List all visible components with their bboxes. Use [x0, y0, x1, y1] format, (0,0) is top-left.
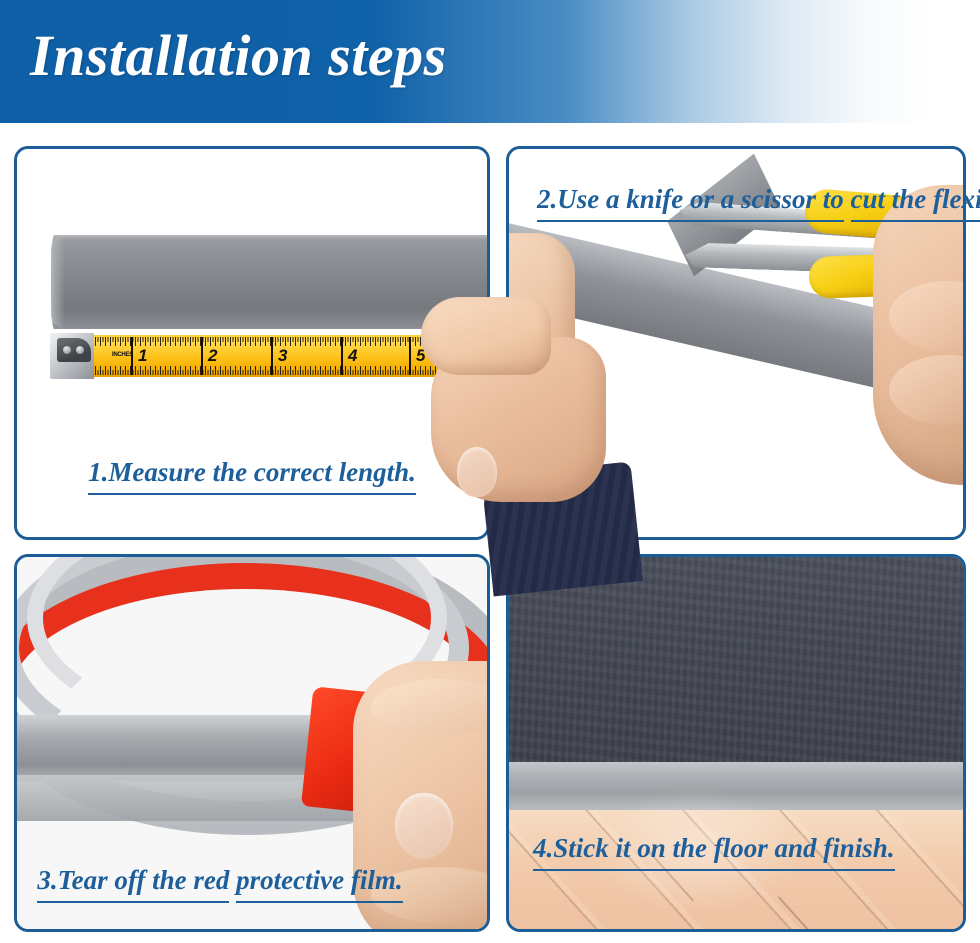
hand-nail	[395, 793, 453, 859]
tape-major-ticks-bottom	[50, 366, 450, 375]
hand-knuckle	[371, 679, 487, 735]
step-4-caption-line-1: 4.Stick it on the floor and finish.	[533, 828, 895, 871]
hand-knuckle	[889, 355, 963, 425]
step-card-1[interactable]: INCHES 1 2 3 4 5 1.Measure the correct l…	[14, 146, 490, 540]
tape-mark-1: 1	[138, 346, 147, 365]
hand-icon	[873, 185, 963, 485]
step-1-caption: 1.Measure the correct length.	[17, 452, 487, 495]
step-4-caption: 4.Stick it on the floor and finish.	[533, 828, 895, 871]
step-3-caption-line-2: protective film.	[236, 860, 402, 903]
tape-hook-rivet	[76, 346, 84, 354]
tape-mark-2: 2	[208, 346, 217, 365]
page-title: Installation steps	[30, 16, 447, 96]
tape-measure-icon: INCHES 1 2 3 4 5	[50, 335, 450, 377]
hand-knuckle	[889, 281, 963, 351]
tape-mark-3: 3	[278, 346, 287, 365]
hand-finger	[421, 297, 551, 375]
steps-grid: INCHES 1 2 3 4 5 1.Measure the correct l…	[14, 146, 966, 932]
page-header: Installation steps	[0, 0, 980, 123]
tape-unit-label: INCHES	[112, 352, 133, 358]
step-4-image	[509, 557, 963, 929]
step-1-caption-line-1: 1.Measure the correct length.	[88, 452, 416, 495]
step-card-4[interactable]: 4.Stick it on the floor and finish.	[506, 554, 966, 932]
step-3-caption: 3.Tear off the red protective film.	[17, 854, 487, 903]
step-card-3[interactable]: 3.Tear off the red protective film.	[14, 554, 490, 932]
step-2-caption-line-2: cut the flexible strips	[851, 179, 980, 222]
tape-mark-4: 4	[348, 346, 357, 365]
step-3-caption-line-1: 3.Tear off the red	[37, 860, 229, 903]
tape-hook-icon	[50, 333, 94, 379]
step-2-caption: 2.Use a knife or a scissor to cut the fl…	[537, 171, 980, 222]
tape-major-ticks-top	[50, 337, 450, 346]
step-2-caption-line-1: 2.Use a knife or a scissor to	[537, 179, 844, 222]
tape-hook-rivet	[63, 346, 71, 354]
